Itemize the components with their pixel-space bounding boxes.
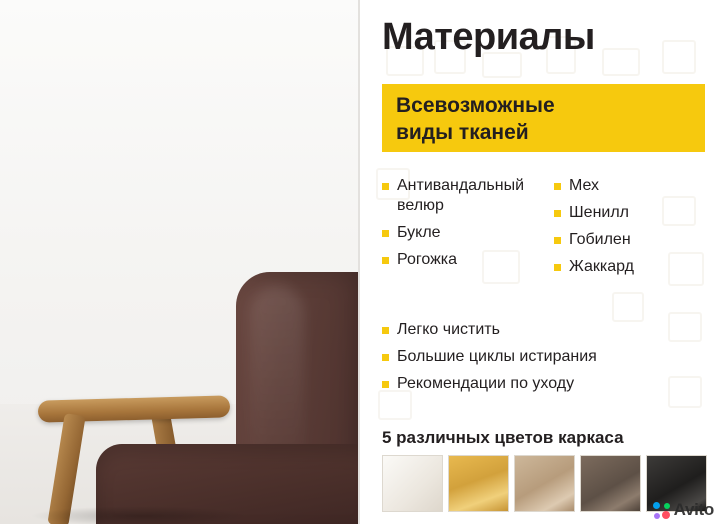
benefits-list: Легко чистить Большие циклы истирания Ре…: [382, 320, 712, 401]
square-bullet-icon: [554, 264, 561, 271]
square-bullet-icon: [382, 327, 389, 334]
fabric-lists: Антивандальный велюр Букле Рогожка Мех: [382, 176, 708, 284]
swatch-dark-walnut[interactable]: [580, 455, 641, 512]
square-bullet-icon: [382, 257, 389, 264]
promo-card: Материалы Всевозможные виды тканей Антив…: [0, 0, 720, 524]
fabric-list-left: Антивандальный велюр Букле Рогожка: [382, 176, 536, 284]
square-bullet-icon: [382, 354, 389, 361]
list-item: Легко чистить: [382, 320, 712, 340]
info-panel: Материалы Всевозможные виды тканей Антив…: [362, 0, 720, 524]
swatch-natural-beech[interactable]: [514, 455, 575, 512]
stool-outline-icon: [612, 292, 644, 322]
panel-divider: [358, 0, 360, 524]
chair-outline-icon: [662, 40, 696, 74]
list-item-label: Гобилен: [569, 230, 631, 250]
list-item: Рогожка: [382, 250, 536, 270]
list-item-label: Большие циклы истирания: [397, 347, 597, 367]
list-item-label: Рекомендации по уходу: [397, 374, 574, 394]
square-bullet-icon: [554, 237, 561, 244]
highlight-banner-line1: Всевозможные: [396, 93, 555, 118]
square-bullet-icon: [382, 381, 389, 388]
avito-logo-icon: [653, 502, 670, 519]
list-item: Жаккард: [554, 257, 708, 277]
table-outline-icon: [602, 48, 640, 76]
list-item: Большие циклы истирания: [382, 347, 712, 367]
swatch-white-wood[interactable]: [382, 455, 443, 512]
frame-colors-title: 5 различных цветов каркаса: [382, 428, 624, 448]
list-item: Антивандальный велюр: [382, 176, 536, 216]
list-item-label: Букле: [397, 223, 441, 243]
list-item: Букле: [382, 223, 536, 243]
list-item-label: Жаккард: [569, 257, 634, 277]
square-bullet-icon: [382, 183, 389, 190]
list-item-label: Легко чистить: [397, 320, 500, 340]
list-item: Мех: [554, 176, 708, 196]
square-bullet-icon: [554, 210, 561, 217]
avito-wordmark: Avito: [674, 500, 714, 520]
list-item-label: Мех: [569, 176, 599, 196]
highlight-banner: Всевозможные виды тканей: [382, 84, 705, 152]
list-item: Шенилл: [554, 203, 708, 223]
chair-shadow: [30, 506, 250, 524]
list-item-label: Антивандальный велюр: [397, 176, 536, 216]
list-item: Гобилен: [554, 230, 708, 250]
avito-watermark: Avito: [653, 500, 714, 520]
square-bullet-icon: [382, 230, 389, 237]
list-item: Рекомендации по уходу: [382, 374, 712, 394]
swatch-golden-oak[interactable]: [448, 455, 509, 512]
product-photo: [0, 0, 360, 524]
fabric-list-right: Мех Шенилл Гобилен Жаккард: [554, 176, 708, 284]
list-item-label: Шенилл: [569, 203, 629, 223]
highlight-banner-line2: виды тканей: [396, 120, 529, 145]
square-bullet-icon: [554, 183, 561, 190]
page-title: Материалы: [382, 16, 595, 59]
list-item-label: Рогожка: [397, 250, 457, 270]
